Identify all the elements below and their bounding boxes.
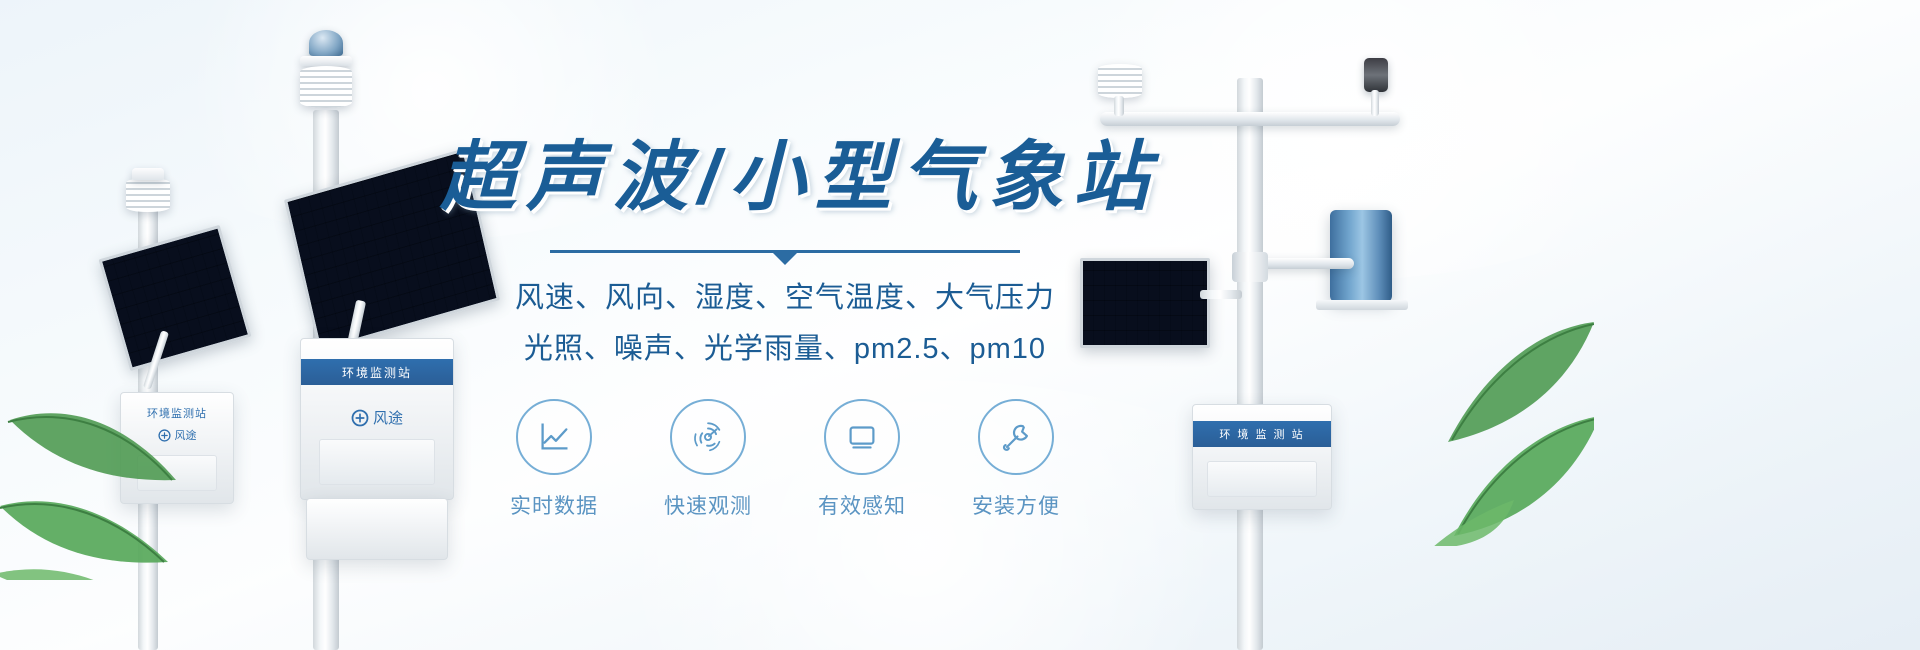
wind-vane-stem <box>1371 90 1379 116</box>
feature-item-realtime-data[interactable]: 实时数据 <box>498 399 610 520</box>
left-cabinet-label: 环境监测站 <box>147 405 207 421</box>
middle-dome-sensor <box>309 30 343 56</box>
right-mast <box>1237 78 1263 650</box>
triangle-down-icon <box>772 252 798 265</box>
feature-icon-circle <box>670 399 746 475</box>
middle-cabinet-brand: 风途 <box>373 407 403 428</box>
left-radiation-shield <box>126 178 170 212</box>
middle-radiation-shield <box>300 66 352 108</box>
left-cabinet-brand-row: 风途 <box>121 427 233 443</box>
middle-cabinet-label: 环境监测站 <box>342 364 412 381</box>
title-divider <box>550 250 1020 253</box>
banner-content: 超声波/小型气象站 风速、风向、湿度、空气温度、大气压力 光照、噪声、光学雨量、… <box>440 104 1130 544</box>
optical-rain-gauge <box>1330 210 1392 302</box>
right-cabinet: 环 境 监 测 站 <box>1192 404 1332 510</box>
feature-label: 快速观测 <box>664 490 752 520</box>
left-cabinet: 环境监测站 风途 <box>120 392 234 504</box>
right-cabinet-door <box>1207 461 1317 497</box>
wind-vane-sensor <box>1364 58 1388 92</box>
left-cabinet-label-row: 环境监测站 <box>121 405 233 421</box>
left-cabinet-door <box>137 455 217 491</box>
subtitle-line-2: 光照、噪声、光学雨量、pm2.5、pm10 <box>440 326 1130 373</box>
page-title: 超声波/小型气象站 <box>440 140 1130 216</box>
monitor-icon <box>843 418 881 456</box>
right-panel-arm <box>1200 290 1242 299</box>
brand-logo-icon <box>158 429 171 442</box>
right-crossarm <box>1100 112 1400 126</box>
right-cabinet-label: 环 境 监 测 站 <box>1219 426 1304 442</box>
feature-item-fast-observation[interactable]: 快速观测 <box>652 399 764 520</box>
feature-item-easy-install[interactable]: 安装方便 <box>960 399 1072 520</box>
wrench-icon <box>997 418 1035 456</box>
middle-cabinet-brand-row: 风途 <box>301 407 453 428</box>
middle-cabinet: 环境监测站 风途 <box>300 338 454 500</box>
brand-logo-icon <box>351 409 369 427</box>
right-cabinet-strip: 环 境 监 测 站 <box>1193 421 1331 447</box>
feature-label: 有效感知 <box>818 490 906 520</box>
feature-label: 实时数据 <box>510 490 598 520</box>
middle-cabinet-strip: 环境监测站 <box>301 359 453 385</box>
middle-cabinet-door <box>319 439 435 485</box>
subtitle-line-1: 风速、风向、湿度、空气温度、大气压力 <box>440 275 1130 322</box>
left-sensor-cap <box>132 168 164 180</box>
middle-sensor-cap <box>300 56 352 66</box>
feature-icon-circle <box>824 399 900 475</box>
left-cabinet-brand: 风途 <box>175 427 197 443</box>
mast-collar <box>1232 252 1268 282</box>
feature-item-effective-sensing[interactable]: 有效感知 <box>806 399 918 520</box>
ultrasonic-anemometer <box>1098 64 1142 98</box>
feature-icon-circle <box>516 399 592 475</box>
line-chart-icon <box>535 418 573 456</box>
feature-list: 实时数据 <box>440 399 1130 520</box>
feature-label: 安装方便 <box>972 490 1060 520</box>
middle-cabinet-lower <box>306 498 448 560</box>
radar-scan-icon <box>689 418 727 456</box>
rain-gauge-shelf <box>1316 300 1408 310</box>
feature-icon-circle <box>978 399 1054 475</box>
product-banner: 环境监测站 风途 环境监测站 <box>0 0 1920 650</box>
